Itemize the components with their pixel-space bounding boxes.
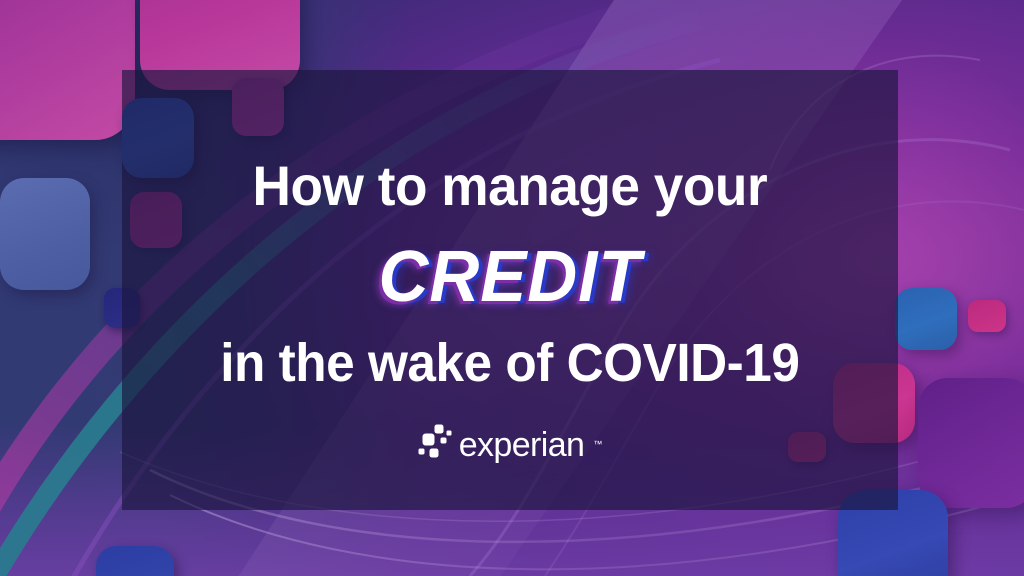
slide-content: How to manage your CREDIT in the wake of… bbox=[122, 70, 898, 510]
experian-logo: experian ™ bbox=[418, 424, 603, 465]
tile-purple-bigright bbox=[918, 378, 1024, 508]
headline-line-3: in the wake of COVID-19 bbox=[220, 336, 799, 390]
experian-dot-matrix-icon bbox=[418, 424, 452, 465]
tile-blue-right bbox=[895, 288, 957, 350]
trademark-symbol: ™ bbox=[593, 440, 602, 449]
headline-line-1: How to manage your bbox=[253, 158, 768, 214]
tile-topleft-magenta bbox=[0, 0, 135, 140]
tile-blue-bottomleft bbox=[96, 546, 174, 576]
tile-magenta-right-sm bbox=[968, 300, 1006, 332]
experian-wordmark: experian bbox=[459, 428, 585, 462]
tile-periwinkle-left bbox=[0, 178, 90, 290]
headline-emphasis-wrapper: CREDIT bbox=[373, 240, 647, 314]
slide-canvas: How to manage your CREDIT in the wake of… bbox=[0, 0, 1024, 576]
headline-emphasis-credit: CREDIT bbox=[378, 241, 641, 313]
